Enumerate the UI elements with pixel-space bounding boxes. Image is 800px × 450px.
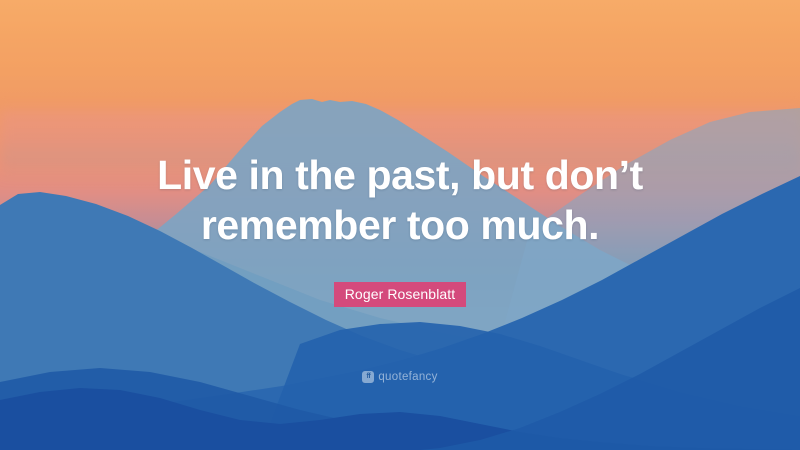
quote-line-1: Live in the past, but don’t (0, 150, 800, 200)
watermark: ff quotefancy (0, 365, 800, 383)
author-attribution: Roger Rosenblatt (0, 282, 800, 307)
quotefancy-logo-icon: ff (362, 371, 374, 383)
quotefancy-logo-glyph: ff (367, 373, 371, 380)
watermark-inner: ff quotefancy (362, 371, 437, 383)
quote-poster: Live in the past, but don’t remember too… (0, 0, 800, 450)
quote-text-block: Live in the past, but don’t remember too… (0, 150, 800, 250)
author-name-badge: Roger Rosenblatt (334, 282, 467, 307)
quote-line-2: remember too much. (0, 200, 800, 250)
watermark-label: quotefancy (378, 371, 437, 383)
